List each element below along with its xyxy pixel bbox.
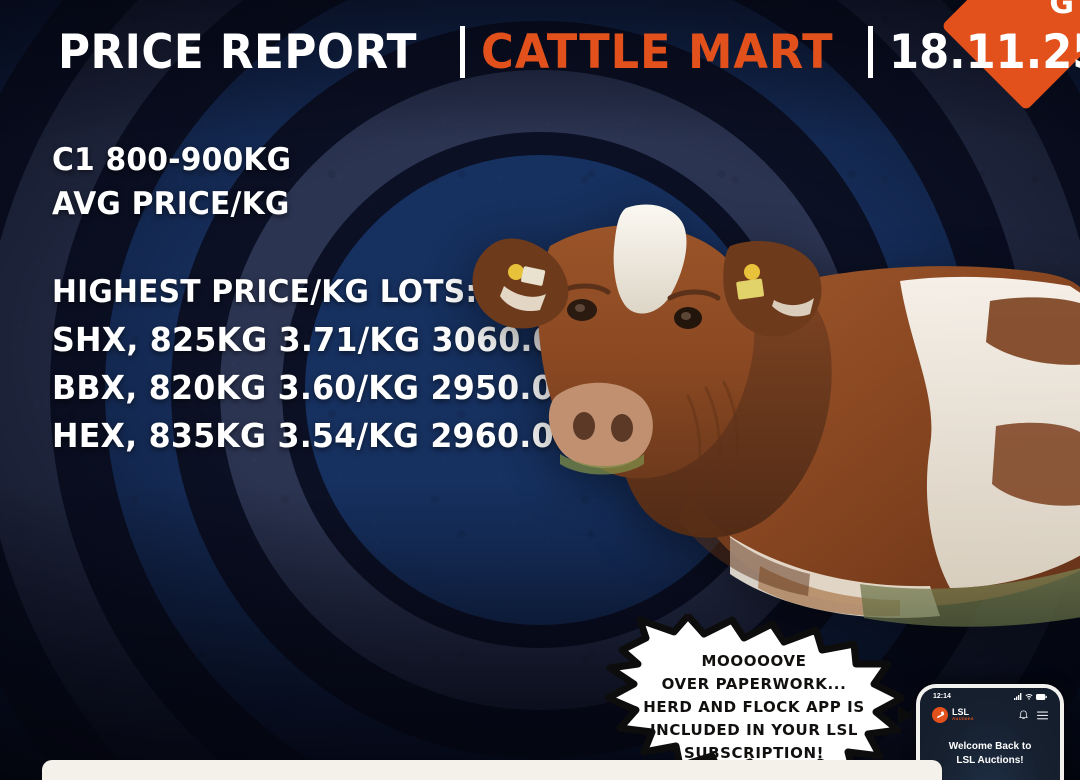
title-separator-2 [868,26,873,78]
battery-icon [1036,694,1047,700]
bottom-panel [42,760,942,780]
speech-bubble-text: MOOOOOVE OVER PAPERWORK... HERD AND FLOC… [604,650,904,765]
price-report-poster: G PRICE REPORT CATTLE MART 18.11.25 C1 8… [0,0,1080,780]
phone-nav-icons [1019,710,1048,720]
title-separator-1 [460,26,465,78]
phone-welcome-message: Welcome Back to LSL Auctions! [920,740,1060,768]
wifi-icon [1025,693,1033,700]
welcome-line-1: Welcome Back to [920,740,1060,754]
hamburger-menu-icon[interactable] [1037,711,1048,720]
header-category: CATTLE MART [481,25,834,80]
phone-status-icons [1014,693,1047,700]
signal-icon [1014,693,1022,700]
bubble-line-4: INCLUDED IN YOUR LSL [604,719,904,742]
bubble-line-1: MOOOOOVE [604,650,904,673]
phone-status-bar: 12:14 [920,693,1060,700]
bubble-line-3: HERD AND FLOCK APP IS [604,696,904,719]
cow-image [430,96,1080,656]
app-brand-text: LSL Auctions [952,708,974,722]
bell-icon[interactable] [1019,710,1028,720]
bubble-line-2: OVER PAPERWORK... [604,673,904,696]
phone-clock: 12:14 [933,693,951,700]
speech-bubble: MOOOOOVE OVER PAPERWORK... HERD AND FLOC… [604,614,904,780]
header-date: 18.11.25 [889,25,1080,80]
poster-header: PRICE REPORT CATTLE MART 18.11.25 [0,14,1080,90]
app-brand-sub: Auctions [952,717,974,722]
page-title: PRICE REPORT [58,25,417,80]
phone-app-nav: LSL Auctions [920,707,1060,723]
lsl-gavel-logo-icon [932,707,948,723]
app-brand: LSL Auctions [932,707,974,723]
